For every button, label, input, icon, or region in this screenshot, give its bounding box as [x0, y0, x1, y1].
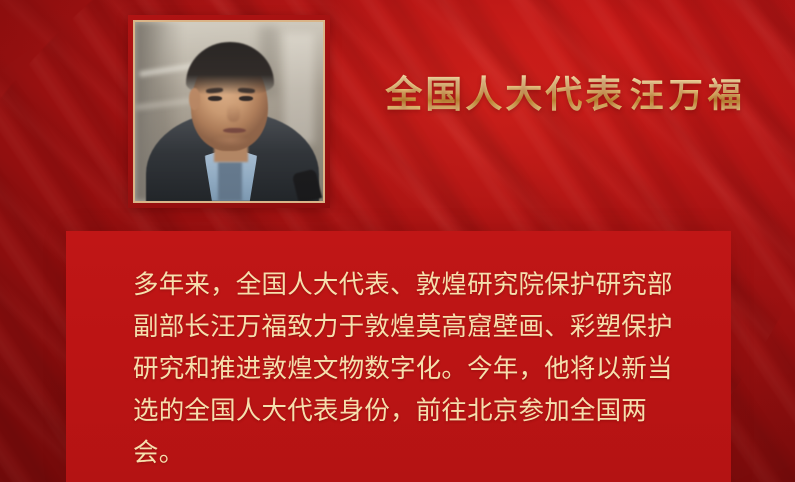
heading-block: 全国人大代表 汪万福 — [360, 48, 772, 117]
portrait-photo — [135, 22, 323, 201]
representative-name: 汪万福 — [630, 76, 747, 116]
portrait-frame — [133, 20, 325, 203]
page-title: 全国人大代表 — [385, 73, 625, 117]
poster-canvas: 全国人大代表 汪万福 多年来，全国人大代表、敦煌研究院保护研究部副部长汪万福致力… — [0, 0, 795, 482]
photo-color-grade — [135, 22, 323, 201]
description-text: 多年来，全国人大代表、敦煌研究院保护研究部副部长汪万福致力于敦煌莫高窟壁画、彩塑… — [133, 264, 693, 474]
description-panel: 多年来，全国人大代表、敦煌研究院保护研究部副部长汪万福致力于敦煌莫高窟壁画、彩塑… — [66, 231, 731, 482]
portrait-card — [128, 15, 330, 208]
